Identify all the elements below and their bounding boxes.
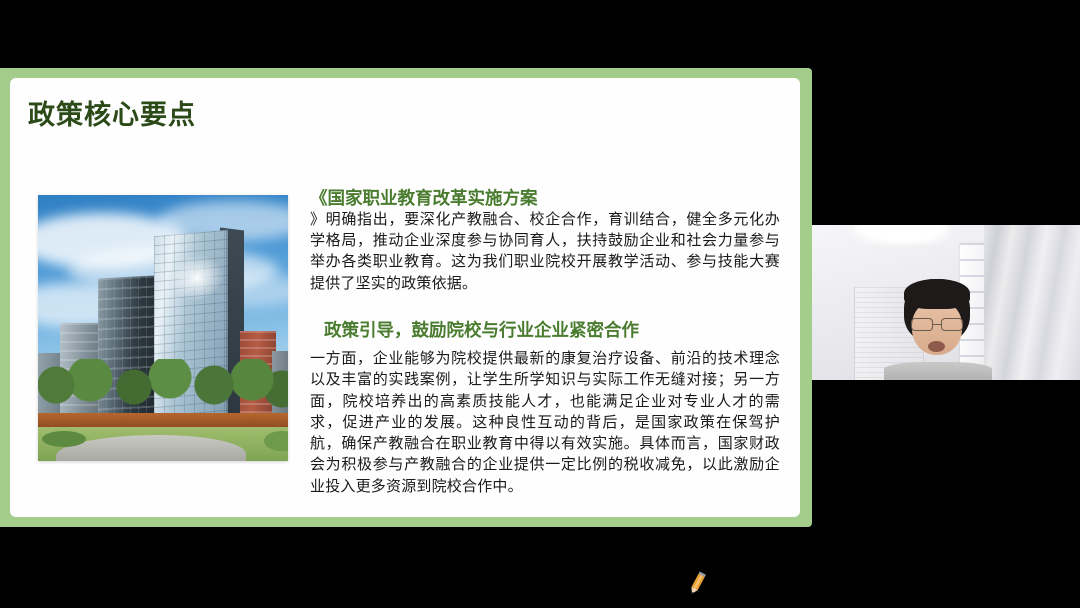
sun-reflection [170,253,224,304]
section-heading-policy-document: 《国家职业教育改革实施方案 [310,188,780,210]
glasses-bridge [933,324,941,325]
presenter-shoulders [884,362,992,380]
screen-root: 政策核心要点 [0,0,1080,608]
glasses-lens-right [941,318,963,331]
tree-row [38,359,288,415]
section-body-policy-guidance: 一方面，企业能够为院校提供最新的康复治疗设备、前沿的技术理念以及丰富的实践案例，… [310,348,780,497]
page-title: 政策核心要点 [28,102,196,129]
section-heading-policy-guidance: 政策引导，鼓励院校与行业企业紧密合作 [310,320,780,342]
hedge [42,431,86,447]
glasses-lens-left [911,318,933,331]
office-building-photo [38,195,288,461]
window-curtain [984,225,1080,380]
section-body-policy-document: 》明确指出，要深化产教融合、校企合作，育训结合，健全多元化办学格局，推动企业深度… [310,209,780,294]
slide-panel[interactable]: 政策核心要点 [0,68,812,527]
slide-content-area: 政策核心要点 [10,78,800,517]
presenter-mouth [928,341,945,352]
presenter-video[interactable] [812,225,1080,380]
glasses-icon [911,318,963,331]
pencil-cursor[interactable] [684,570,710,596]
slide-text-column: 《国家职业教育改革实施方案 》明确指出，要深化产教融合、校企合作，育训结合，健全… [310,188,780,497]
ceiling-light [854,225,950,245]
presenter-fringe [904,279,970,309]
